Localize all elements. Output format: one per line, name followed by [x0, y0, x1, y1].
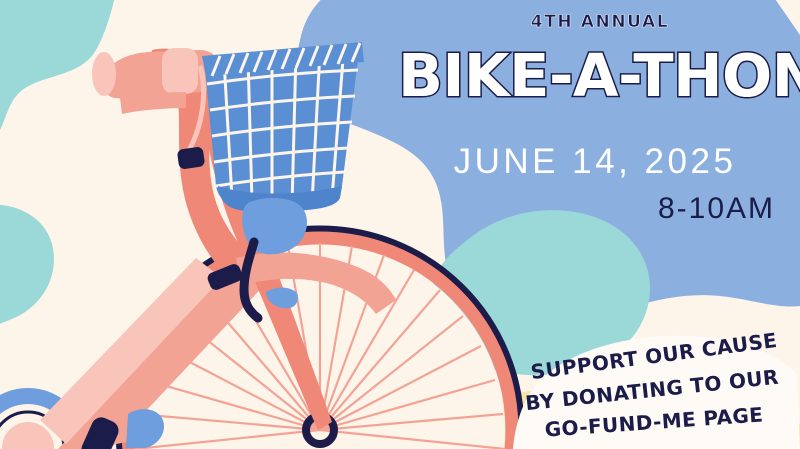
badge-text-block: SUPPORT OUR CAUSE BY DONATING TO OUR GO-…	[505, 330, 800, 449]
frame-clamp-upper	[177, 146, 206, 169]
handlebar-grip	[92, 52, 116, 96]
kicker-text: 4TH ANNUAL	[400, 12, 800, 32]
poster-title: BIKE-A-THON	[398, 44, 800, 108]
donation-badge[interactable]: SUPPORT OUR CAUSE BY DONATING TO OUR GO-…	[505, 330, 800, 449]
wicker-basket	[202, 42, 364, 211]
event-time-text: 8-10AM	[400, 192, 775, 226]
handlebar-stem	[162, 48, 198, 94]
bike-a-thon-poster: 4TH ANNUAL BIKE-A-THON JUNE 14, 2025 8-1…	[0, 0, 800, 449]
event-date-text: JUNE 14, 2025	[400, 142, 790, 182]
